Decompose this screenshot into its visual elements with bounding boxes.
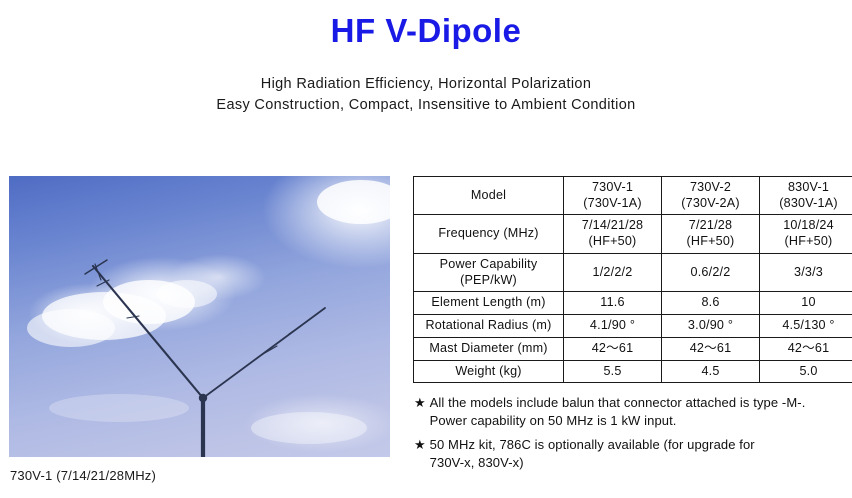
row-label-mast-diameter: Mast Diameter (mm) <box>414 337 564 360</box>
row-label-rotational-radius: Rotational Radius (m) <box>414 315 564 338</box>
header-col-730v2-name: 730V-2 <box>664 180 757 196</box>
header-col-730v2: 730V-2 (730V-2A) <box>662 177 760 215</box>
table-body: Model 730V-1 (730V-1A) 730V-2 (730V-2A) … <box>414 177 852 383</box>
footnote-text: 50 MHz kit, 786C is optionally available… <box>430 436 755 473</box>
table-row: Power Capability (PEP/kW) 1/2/2/2 0.6/2/… <box>414 253 852 291</box>
row-rotational-radius-730v1: 4.1/90 ° <box>564 315 662 338</box>
header-col-730v2-alt: (730V-2A) <box>664 196 757 212</box>
header-col-830v1-name: 830V-1 <box>762 180 852 196</box>
cloud-shapes <box>27 180 390 444</box>
row-label-weight: Weight (kg) <box>414 360 564 383</box>
page-title: HF V-Dipole <box>0 14 852 49</box>
row-weight-830v1: 5.0 <box>760 360 852 383</box>
footnotes: ★ All the models include balun that conn… <box>414 394 844 478</box>
header-model-label: Model <box>414 177 564 215</box>
row-label-power-main: Power Capability <box>416 257 561 273</box>
subtitle-block: High Radiation Efficiency, Horizontal Po… <box>0 74 852 116</box>
table-row: Weight (kg) 5.5 4.5 5.0 <box>414 360 852 383</box>
footnote-item: ★ All the models include balun that conn… <box>414 394 844 431</box>
row-element-length-730v1: 11.6 <box>564 292 662 315</box>
footnote-line: All the models include balun that connec… <box>430 394 806 412</box>
footnote-line: Power capability on 50 MHz is 1 kW input… <box>430 412 806 430</box>
table-row: Mast Diameter (mm) 42〜61 42〜61 42〜61 <box>414 337 852 360</box>
row-mast-diameter-830v1: 42〜61 <box>760 337 852 360</box>
row-label-power-capability: Power Capability (PEP/kW) <box>414 253 564 291</box>
row-power-730v1: 1/2/2/2 <box>564 253 662 291</box>
row-frequency-730v1: 7/14/21/28 (HF+50) <box>564 215 662 253</box>
row-power-730v2: 0.6/2/2 <box>662 253 760 291</box>
header-col-730v1: 730V-1 (730V-1A) <box>564 177 662 215</box>
row-frequency-730v2: 7/21/28 (HF+50) <box>662 215 760 253</box>
row-label-power-sub: (PEP/kW) <box>416 273 561 289</box>
row-element-length-830v1: 10 <box>760 292 852 315</box>
row-label-element-length: Element Length (m) <box>414 292 564 315</box>
table-header-row: Model 730V-1 (730V-1A) 730V-2 (730V-2A) … <box>414 177 852 215</box>
row-mast-diameter-730v1: 42〜61 <box>564 337 662 360</box>
row-frequency-730v1-main: 7/14/21/28 <box>566 218 659 234</box>
row-frequency-730v2-main: 7/21/28 <box>664 218 757 234</box>
specification-table: Model 730V-1 (730V-1A) 730V-2 (730V-2A) … <box>413 176 852 383</box>
row-mast-diameter-730v2: 42〜61 <box>662 337 760 360</box>
row-frequency-830v1: 10/18/24 (HF+50) <box>760 215 852 253</box>
header-col-730v1-name: 730V-1 <box>566 180 659 196</box>
subtitle-line-2: Easy Construction, Compact, Insensitive … <box>0 95 852 116</box>
footnote-line: 50 MHz kit, 786C is optionally available… <box>430 436 755 454</box>
row-weight-730v1: 5.5 <box>564 360 662 383</box>
row-label-frequency-main: Frequency (MHz) <box>416 226 561 242</box>
subtitle-line-1: High Radiation Efficiency, Horizontal Po… <box>0 74 852 95</box>
header-col-830v1: 830V-1 (830V-1A) <box>760 177 852 215</box>
photo-caption: 730V-1 (7/14/21/28MHz) <box>10 468 156 483</box>
row-frequency-730v2-sub: (HF+50) <box>664 234 757 250</box>
row-rotational-radius-830v1: 4.5/130 ° <box>760 315 852 338</box>
row-frequency-830v1-sub: (HF+50) <box>762 234 852 250</box>
row-weight-730v2: 4.5 <box>662 360 760 383</box>
row-label-frequency: Frequency (MHz) <box>414 215 564 253</box>
antenna-illustration <box>9 176 390 457</box>
table-row: Element Length (m) 11.6 8.6 10 <box>414 292 852 315</box>
row-power-830v1: 3/3/3 <box>760 253 852 291</box>
table-row: Frequency (MHz) 7/14/21/28 (HF+50) 7/21/… <box>414 215 852 253</box>
footnote-text: All the models include balun that connec… <box>430 394 806 431</box>
header-col-730v1-alt: (730V-1A) <box>566 196 659 212</box>
row-frequency-830v1-main: 10/18/24 <box>762 218 852 234</box>
antenna-photo <box>9 176 390 457</box>
table-row: Rotational Radius (m) 4.1/90 ° 3.0/90 ° … <box>414 315 852 338</box>
footnote-item: ★ 50 MHz kit, 786C is optionally availab… <box>414 436 844 473</box>
row-element-length-730v2: 8.6 <box>662 292 760 315</box>
row-rotational-radius-730v2: 3.0/90 ° <box>662 315 760 338</box>
star-icon: ★ <box>414 394 426 412</box>
footnote-line: 730V-x, 830V-x) <box>430 454 755 472</box>
star-icon: ★ <box>414 436 426 454</box>
row-frequency-730v1-sub: (HF+50) <box>566 234 659 250</box>
header-col-830v1-alt: (830V-1A) <box>762 196 852 212</box>
